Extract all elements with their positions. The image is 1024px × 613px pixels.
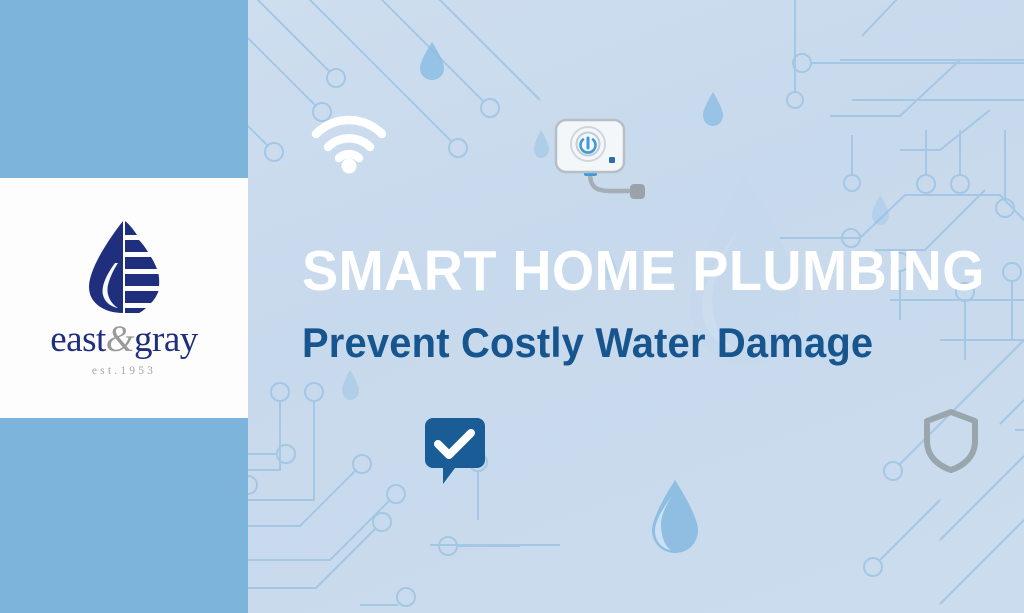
check-badge-icon (425, 418, 485, 486)
brand-sidebar: east&gray est.1953 (0, 0, 248, 613)
brand-logo-card[interactable]: east&gray est.1953 (0, 178, 248, 418)
water-droplet-leaf-logo (85, 219, 163, 315)
page-title: SMART HOME PLUMBING (302, 243, 958, 300)
shield-icon (922, 408, 980, 474)
brand-established-text: est.1953 (92, 365, 156, 377)
brand-name-east: east (50, 319, 106, 360)
page-subtitle: Prevent Costly Water Damage (302, 322, 958, 364)
brand-ampersand: & (106, 319, 134, 360)
brand-wordmark: east&gray (50, 321, 198, 358)
wifi-icon (310, 112, 388, 174)
headline-block: SMART HOME PLUMBING Prevent Costly Water… (302, 243, 992, 364)
slide-canvas: east&gray est.1953 SMART HOME PLUMBING P… (0, 0, 1024, 613)
brand-name-gray: gray (134, 319, 198, 360)
smart-leak-sensor-icon (550, 113, 650, 205)
